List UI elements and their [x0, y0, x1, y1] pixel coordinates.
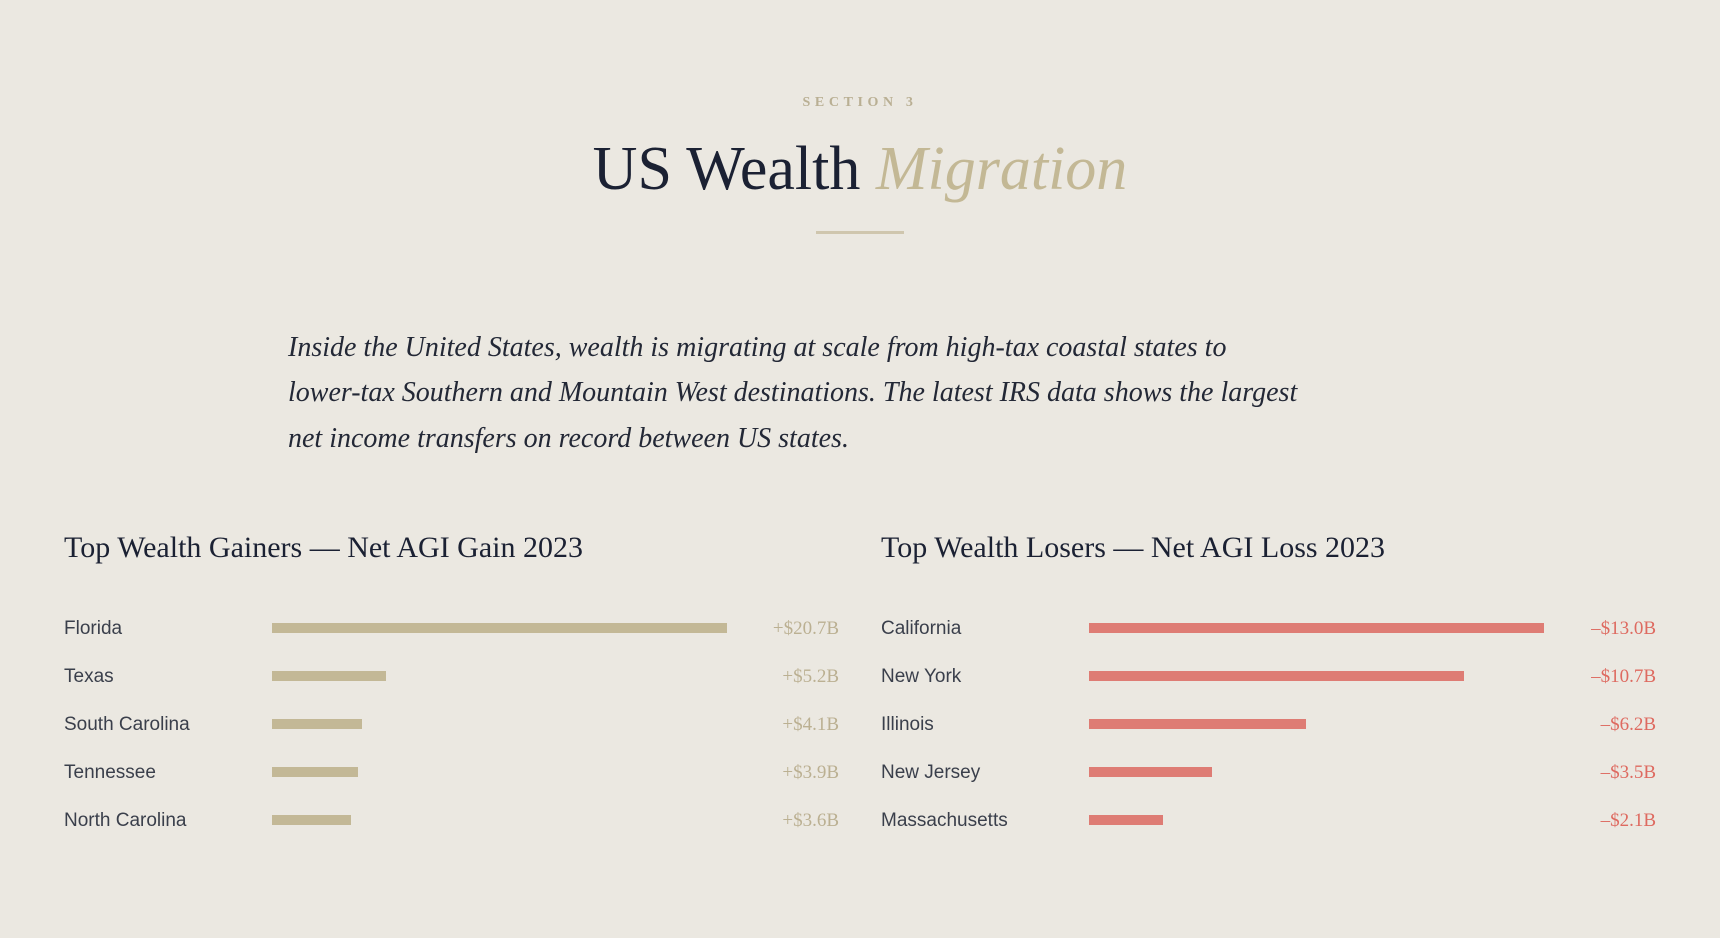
bar-fill [272, 623, 727, 633]
chart-losers: Top Wealth Losers — Net AGI Loss 2023 Ca… [881, 530, 1656, 844]
page-title-primary: US Wealth [593, 135, 861, 203]
bar-track [1089, 767, 1544, 777]
bar-track [272, 767, 727, 777]
bar-row: Illinois–$6.2B [881, 700, 1656, 748]
bar-row-label: California [881, 619, 1089, 638]
bar-row: Florida+$20.7B [64, 604, 839, 652]
bar-row-value: +$20.7B [727, 619, 839, 638]
bar-fill [1089, 767, 1212, 777]
title-divider [816, 231, 904, 234]
bar-fill [272, 815, 351, 825]
bar-row-label: South Carolina [64, 715, 272, 734]
page-title-accent: Migration [876, 135, 1127, 203]
bar-row-label: Illinois [881, 715, 1089, 734]
bar-row: North Carolina+$3.6B [64, 796, 839, 844]
bar-row-value: +$3.9B [727, 763, 839, 782]
chart-losers-bars: California–$13.0BNew York–$10.7BIllinois… [881, 604, 1656, 844]
page-title: US Wealth Migration [0, 137, 1720, 201]
bar-row: Massachusetts–$2.1B [881, 796, 1656, 844]
bar-track [1089, 671, 1544, 681]
bar-track [1089, 815, 1544, 825]
chart-gainers-bars: Florida+$20.7BTexas+$5.2BSouth Carolina+… [64, 604, 839, 844]
bar-row-value: –$2.1B [1544, 811, 1656, 830]
bar-row-value: +$4.1B [727, 715, 839, 734]
bar-track [272, 623, 727, 633]
slide-root: SECTION 3 US Wealth Migration Inside the… [0, 0, 1720, 938]
bar-track [272, 815, 727, 825]
bar-row: California–$13.0B [881, 604, 1656, 652]
bar-fill [1089, 671, 1464, 681]
intro-paragraph: Inside the United States, wealth is migr… [288, 325, 1298, 461]
bar-track [272, 671, 727, 681]
chart-gainers: Top Wealth Gainers — Net AGI Gain 2023 F… [64, 530, 839, 844]
charts-container: Top Wealth Gainers — Net AGI Gain 2023 F… [0, 530, 1720, 844]
bar-row-label: North Carolina [64, 811, 272, 830]
bar-row: Texas+$5.2B [64, 652, 839, 700]
bar-track [1089, 719, 1544, 729]
bar-row: South Carolina+$4.1B [64, 700, 839, 748]
bar-row-value: –$3.5B [1544, 763, 1656, 782]
bar-row-label: New York [881, 667, 1089, 686]
section-eyebrow: SECTION 3 [0, 96, 1720, 110]
bar-row: New York–$10.7B [881, 652, 1656, 700]
bar-track [1089, 623, 1544, 633]
bar-row-value: –$13.0B [1544, 619, 1656, 638]
bar-row: New Jersey–$3.5B [881, 748, 1656, 796]
bar-row: Tennessee+$3.9B [64, 748, 839, 796]
bar-fill [272, 719, 362, 729]
bar-track [272, 719, 727, 729]
bar-row-label: Massachusetts [881, 811, 1089, 830]
bar-fill [1089, 719, 1306, 729]
bar-row-label: New Jersey [881, 763, 1089, 782]
bar-row-value: +$3.6B [727, 811, 839, 830]
bar-row-value: –$6.2B [1544, 715, 1656, 734]
bar-row-label: Texas [64, 667, 272, 686]
bar-fill [272, 767, 358, 777]
slide-header: SECTION 3 US Wealth Migration [0, 96, 1720, 234]
chart-losers-title: Top Wealth Losers — Net AGI Loss 2023 [881, 530, 1656, 566]
bar-row-value: –$10.7B [1544, 667, 1656, 686]
bar-row-label: Tennessee [64, 763, 272, 782]
bar-fill [272, 671, 386, 681]
chart-gainers-title: Top Wealth Gainers — Net AGI Gain 2023 [64, 530, 839, 566]
bar-row-value: +$5.2B [727, 667, 839, 686]
bar-fill [1089, 623, 1544, 633]
bar-row-label: Florida [64, 619, 272, 638]
bar-fill [1089, 815, 1163, 825]
